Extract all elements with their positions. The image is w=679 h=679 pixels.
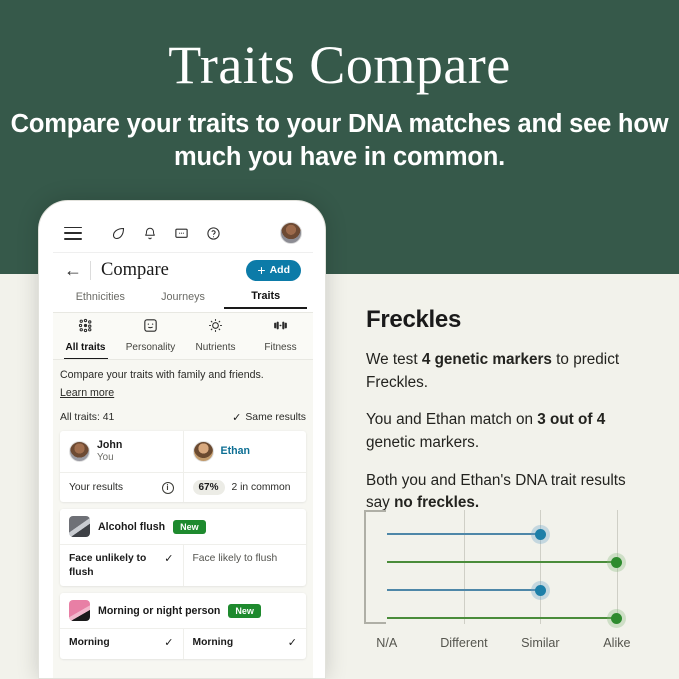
marker-dot-4: [611, 613, 622, 624]
header-divider: [90, 261, 91, 280]
answer-text: Morning: [193, 636, 234, 650]
hamburger-menu-icon[interactable]: [64, 227, 82, 240]
na-bracket: [364, 510, 386, 624]
your-results-label: Your results: [69, 482, 123, 493]
sun-icon: [207, 317, 224, 339]
john-avatar: [69, 441, 90, 462]
results-row: Your results i 67% 2 in common: [60, 472, 306, 502]
answer-text: Morning: [69, 636, 110, 650]
p2-bold: 3 out of 4: [537, 411, 605, 428]
person-ethan[interactable]: Ethan: [183, 431, 307, 472]
trait-detail-title: Freckles: [366, 306, 653, 334]
phone-screen: ← Compare + Add EthnicitiesJourneysTrait…: [53, 214, 313, 679]
p1-bold: 4 genetic markers: [422, 351, 552, 368]
detail-paragraph-1: We test 4 genetic markers to predict Fre…: [366, 349, 653, 394]
tab-label: Journeys: [161, 291, 205, 303]
check-icon: ✓: [232, 411, 241, 424]
gridline-similar: [540, 510, 541, 624]
info-icon[interactable]: i: [162, 482, 174, 494]
tab-label: Traits: [251, 290, 280, 302]
help-icon[interactable]: [206, 226, 221, 241]
intro-text: Compare your traits with family and frie…: [60, 368, 306, 383]
category-fitness[interactable]: Fitness: [248, 317, 313, 359]
marker-track-2: [387, 561, 617, 563]
category-personality[interactable]: Personality: [118, 317, 183, 359]
back-arrow-icon[interactable]: ←: [64, 261, 82, 279]
answer-cell-left: Morning ✓: [60, 629, 183, 659]
p1-pre: We test: [366, 351, 422, 368]
topbar-icon-group: [111, 226, 221, 241]
page-title: Traits Compare: [0, 38, 679, 92]
same-results-filter[interactable]: ✓ Same results: [232, 411, 306, 424]
p2-pre: You and Ethan match on: [366, 411, 537, 428]
genetic-marker-chart: N/ADifferentSimilarAlike: [358, 508, 658, 658]
trait-answers: Morning ✓ Morning ✓: [60, 628, 306, 659]
detail-paragraph-2: You and Ethan match on 3 out of 4 geneti…: [366, 409, 653, 454]
chart-plot-area: [358, 508, 658, 633]
add-button[interactable]: + Add: [246, 260, 301, 281]
x-axis-label: Similar: [521, 636, 559, 650]
marker-dot-3: [535, 585, 546, 596]
hero-subtitle: Compare your traits to your DNA matches …: [0, 108, 679, 173]
leaf-icon[interactable]: [111, 226, 126, 241]
trait-name: Alcohol flush: [98, 521, 165, 533]
phone-mockup: ← Compare + Add EthnicitiesJourneysTrait…: [38, 200, 326, 679]
bell-icon[interactable]: [143, 226, 157, 241]
section-tabs: EthnicitiesJourneysTraits: [53, 287, 313, 312]
alcohol-flush-thumbnail: [69, 516, 90, 537]
tab-label: Ethnicities: [76, 291, 125, 303]
trait-category-bar: All traits Personality: [53, 313, 313, 359]
tab-traits[interactable]: Traits: [224, 290, 307, 309]
gridline-different: [464, 510, 465, 624]
answer-cell-right: Face likely to flush: [183, 545, 307, 586]
person-name: Ethan: [221, 445, 250, 458]
chart-x-axis-labels: N/ADifferentSimilarAlike: [358, 636, 658, 656]
answer-cell-left: Face unlikely to flush ✓: [60, 545, 183, 586]
add-button-label: Add: [270, 264, 290, 276]
compare-header: ← Compare + Add: [53, 252, 313, 287]
person-sub: You: [97, 452, 122, 464]
message-icon[interactable]: [174, 226, 189, 241]
x-axis-label: N/A: [376, 636, 397, 650]
tab-ethnicities[interactable]: Ethnicities: [59, 291, 142, 308]
people-row: John You Ethan: [60, 431, 306, 472]
dumbbell-icon: [272, 317, 289, 339]
user-avatar[interactable]: [280, 222, 302, 244]
app-topbar: [53, 214, 313, 252]
new-badge: New: [228, 604, 261, 618]
p2-post: genetic markers.: [366, 434, 479, 451]
answer-text: Face unlikely to flush: [69, 552, 158, 579]
answer-cell-right: Morning ✓: [183, 629, 307, 659]
category-nutrients[interactable]: Nutrients: [183, 317, 248, 359]
marker-dot-1: [535, 529, 546, 540]
in-common-label: 2 in common: [232, 482, 291, 493]
trait-name: Morning or night person: [98, 605, 220, 617]
smiley-face-icon: [142, 317, 159, 339]
marker-track-4: [387, 617, 617, 619]
x-axis-label: Alike: [603, 636, 630, 650]
traits-summary-row: All traits: 41 ✓ Same results: [60, 411, 306, 424]
trait-card[interactable]: Morning or night person New Morning ✓ Mo…: [60, 593, 306, 659]
match-percent-badge: 67%: [193, 480, 225, 495]
check-icon: ✓: [158, 636, 173, 649]
ethan-avatar: [193, 441, 214, 462]
phone-bezel: ← Compare + Add EthnicitiesJourneysTrait…: [47, 208, 319, 679]
marker-track-3: [387, 589, 541, 591]
check-icon: ✓: [282, 636, 297, 649]
person-john[interactable]: John You: [60, 431, 183, 472]
match-results-cell: 67% 2 in common: [183, 473, 307, 502]
category-label: Personality: [126, 342, 175, 353]
same-results-label: Same results: [245, 412, 306, 423]
trait-header: Morning or night person New: [60, 593, 306, 628]
x-axis-label: Different: [440, 636, 487, 650]
dots-grid-icon: [77, 317, 94, 339]
morning-night-thumbnail: [69, 600, 90, 621]
person-name: John: [97, 439, 122, 452]
all-traits-count: All traits: 41: [60, 412, 114, 423]
compare-body: Compare your traits with family and frie…: [53, 360, 313, 679]
category-label: All traits: [65, 342, 105, 353]
marker-dot-2: [611, 557, 622, 568]
category-all-traits[interactable]: All traits: [53, 317, 118, 359]
your-results-cell: Your results i: [60, 473, 183, 502]
trait-answers: Face unlikely to flush ✓ Face likely to …: [60, 544, 306, 586]
check-icon: ✓: [158, 552, 173, 565]
trait-card[interactable]: Alcohol flush New Face unlikely to flush…: [60, 509, 306, 586]
people-card: John You Ethan Your results i: [60, 431, 306, 502]
compare-title: Compare: [101, 260, 169, 281]
category-active-underline: [64, 358, 108, 359]
learn-more-link[interactable]: Learn more: [60, 387, 114, 399]
trait-header: Alcohol flush New: [60, 509, 306, 544]
category-label: Nutrients: [195, 342, 235, 353]
tab-journeys[interactable]: Journeys: [142, 291, 225, 308]
new-badge: New: [173, 520, 206, 534]
answer-text: Face likely to flush: [193, 552, 278, 566]
marker-track-1: [387, 533, 541, 535]
category-label: Fitness: [264, 342, 296, 353]
plus-icon: +: [257, 263, 265, 277]
